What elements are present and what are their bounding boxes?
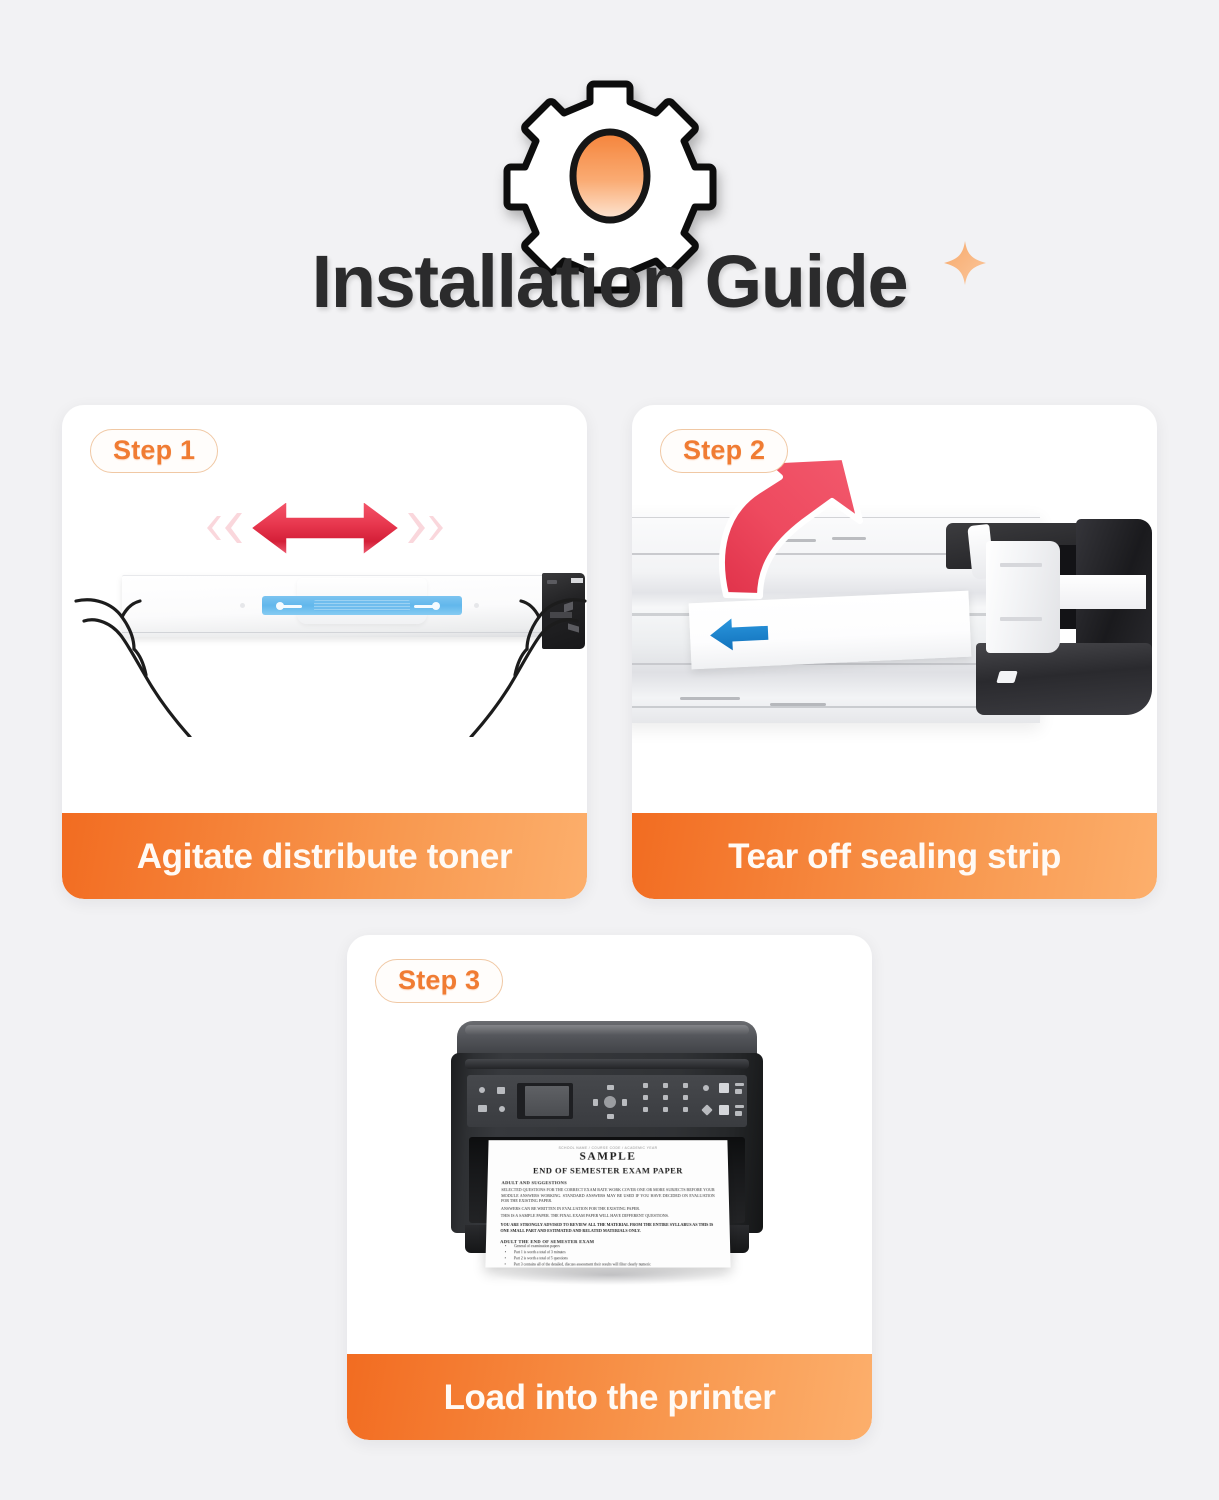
printed-page: SCHOOL NAME / COURSE CODE / ACADEMIC YEA… xyxy=(485,1140,730,1267)
keypad-1 xyxy=(643,1083,648,1088)
step-card-1: Step 1 xyxy=(62,405,587,899)
page-section-1-heading: ADULT AND SUGGESTIONS xyxy=(501,1180,714,1185)
printer: SCHOOL NAME / COURSE CODE / ACADEMIC YEA… xyxy=(451,1021,763,1291)
sparkle-icon xyxy=(941,239,989,287)
page-section-2-list: General of examination papersPart 1 is w… xyxy=(514,1244,717,1268)
step-caption-3: Load into the printer xyxy=(347,1354,872,1440)
handle-knob-left xyxy=(276,602,302,610)
clip-rib-2 xyxy=(1000,617,1042,621)
page-subtitle: END OF SEMESTER EXAM PAPER xyxy=(502,1166,715,1176)
cartridge-blue-handle xyxy=(262,596,462,615)
hand-right-icon xyxy=(457,587,587,737)
page-preheader: SCHOOL NAME / COURSE CODE / ACADEMIC YEA… xyxy=(502,1146,714,1150)
panel-icon-label-4 xyxy=(735,1111,742,1116)
housing-notch xyxy=(996,671,1017,683)
list-item: General of examination papers xyxy=(514,1244,716,1250)
keypad-8 xyxy=(663,1107,668,1112)
handle-ridges xyxy=(314,600,410,611)
panel-stop-button xyxy=(703,1085,709,1091)
keypad-2 xyxy=(663,1083,668,1088)
page-title-text: Installation Guide xyxy=(312,245,908,319)
panel-button-4 xyxy=(499,1106,505,1112)
keypad-9 xyxy=(683,1107,688,1112)
panel-button-1 xyxy=(479,1087,485,1093)
paper-shadow xyxy=(495,1265,725,1285)
page-section-1-para-3: THIS IS A SAMPLE PAPER. THE FINAL EXAM P… xyxy=(501,1213,716,1219)
nav-right xyxy=(622,1099,627,1106)
cartridge-screw-left xyxy=(240,603,245,608)
panel-icon-label-3 xyxy=(735,1105,744,1108)
panel-button-2 xyxy=(497,1087,505,1094)
header: Installation Guide xyxy=(0,0,1219,380)
nav-left xyxy=(593,1099,598,1106)
panel-icon-label-2 xyxy=(735,1089,742,1094)
keypad-6 xyxy=(683,1095,688,1100)
step-caption-2-text: Tear off sealing strip xyxy=(728,839,1061,874)
keypad-5 xyxy=(663,1095,668,1100)
page-section-1-bold: YOU ARE STRONGLY ADVISED TO REVIEW ALL T… xyxy=(500,1222,715,1234)
panel-button-3 xyxy=(478,1105,487,1112)
clip-rib-1 xyxy=(1000,563,1042,567)
keypad-3 xyxy=(683,1083,688,1088)
page-title: Installation Guide xyxy=(0,245,1219,319)
curved-arrow-up-right-icon xyxy=(710,455,870,600)
step-badge-1: Step 1 xyxy=(90,429,218,473)
printer-lip xyxy=(465,1059,749,1069)
printer-control-panel xyxy=(467,1075,747,1127)
cartridge-tick-5 xyxy=(680,697,740,700)
printer-top-cover xyxy=(457,1021,757,1057)
panel-icon-label-1 xyxy=(735,1083,744,1086)
step-caption-3-text: Load into the printer xyxy=(444,1380,776,1415)
step-caption-1: Agitate distribute toner xyxy=(62,813,587,899)
step-badge-3: Step 3 xyxy=(375,959,503,1003)
handle-knob-right xyxy=(414,602,440,610)
step-card-2: Step 2 xyxy=(632,405,1157,899)
page-title-sample: SAMPLE xyxy=(502,1151,714,1163)
step-badge-2: Step 2 xyxy=(660,429,788,473)
printer-lcd-display xyxy=(517,1083,573,1119)
end-cap-detail-1 xyxy=(547,580,557,584)
cartridge-tick-6 xyxy=(770,703,826,706)
nav-up xyxy=(607,1085,614,1090)
list-item: Part 2 is worth a total of 5 questions xyxy=(514,1256,716,1262)
step-caption-2: Tear off sealing strip xyxy=(632,813,1157,899)
arrow-left-icon xyxy=(707,614,771,655)
hand-left-icon xyxy=(74,587,204,737)
printer-navigation-pad xyxy=(593,1085,627,1119)
list-item: Part 1 is worth a total of 3 minutes xyxy=(514,1250,716,1256)
double-headed-arrow-icon xyxy=(195,491,455,565)
panel-scan-button xyxy=(719,1105,729,1115)
gear-icon xyxy=(490,78,730,253)
list-item: Part 3 contains all of the detailed, dis… xyxy=(514,1263,717,1268)
step-caption-1-text: Agitate distribute toner xyxy=(137,839,512,874)
keypad-7 xyxy=(643,1107,648,1112)
sealing-strip xyxy=(689,591,972,670)
end-cap-detail-2 xyxy=(571,578,583,583)
nav-down xyxy=(607,1114,614,1119)
page-section-1-para-2: ANSWERS CAN BE WRITTEN IN EVALUATION FOR… xyxy=(501,1206,715,1212)
page-section-1-para-1: SELECTED QUESTIONS FOR THE CORRECT EXAM … xyxy=(501,1187,715,1205)
panel-copy-button xyxy=(719,1083,729,1093)
keypad-4 xyxy=(643,1095,648,1100)
white-clip xyxy=(986,541,1060,653)
panel-start-button xyxy=(701,1104,712,1115)
step-card-3: Step 3 xyxy=(347,935,872,1440)
